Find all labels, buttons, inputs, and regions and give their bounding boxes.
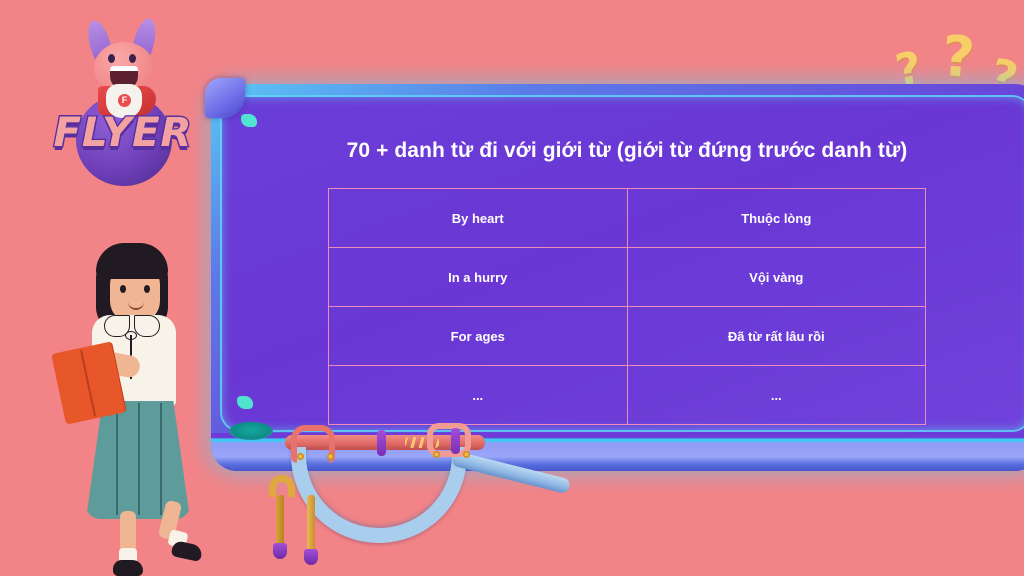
cell-english: In a hurry [329,248,628,307]
table-row: In a hurry Vội vàng [329,248,926,307]
pipe-ring [377,430,386,456]
gold-pipe-bend [269,475,295,497]
pipe-ring [451,428,460,454]
cell-english: ... [329,366,628,425]
girl-collar-right [134,315,160,337]
cell-english: For ages [329,307,628,366]
page-title: 70 + danh từ đi với giới từ (giới từ đứn… [232,139,1022,163]
girl-shoe-left [113,560,143,576]
question-mark-icon: ? [940,29,976,87]
table-row: By heart Thuộc lòng [329,189,926,248]
flyer-logo: F FLYER [48,14,198,179]
pipes-decoration [255,425,615,570]
gold-pipe-stem [307,495,315,553]
pipe-bolt [433,451,440,458]
pipe-bolt [327,453,334,460]
mascot-eye-left [108,54,115,63]
frame-accent-dot-bottom-left [237,396,253,409]
cell-english: By heart [329,189,628,248]
girl-leg-left [120,511,136,553]
mascot-eye-right [129,54,136,63]
girl-eye-left [120,285,126,293]
pipe-bolt [297,453,304,460]
pipe-bolt [463,451,470,458]
frame-accent-dot-top-left [241,114,257,127]
girl-skirt-pleat [160,403,162,515]
flyer-wordmark: FLYER [48,110,198,156]
rabbit-mascot-icon: F [72,18,176,122]
blue-pipe-right-segment [451,451,571,495]
girl-shoe-right [171,540,204,562]
girl-bangs [96,243,168,279]
cell-vietnamese: Đã từ rất lâu rồi [627,307,926,366]
table-row: ... ... [329,366,926,425]
cell-vietnamese: Thuộc lòng [627,189,926,248]
girl-skirt-pleat [116,403,118,515]
mascot-badge: F [118,94,131,107]
vocabulary-table: By heart Thuộc lòng In a hurry Vội vàng … [328,188,926,425]
gold-pipe-stem [276,495,284,547]
schoolgirl-illustration [58,243,218,576]
pipe-nozzle [273,543,287,559]
cell-vietnamese: ... [627,366,926,425]
table-row: For ages Đã từ rất lâu rồi [329,307,926,366]
pipe-nozzle [304,549,318,565]
cell-vietnamese: Vội vàng [627,248,926,307]
slide-canvas: ? ? ? F FLYER [0,0,1024,576]
girl-eye-right [144,285,150,293]
girl-skirt-pleat [138,403,140,515]
